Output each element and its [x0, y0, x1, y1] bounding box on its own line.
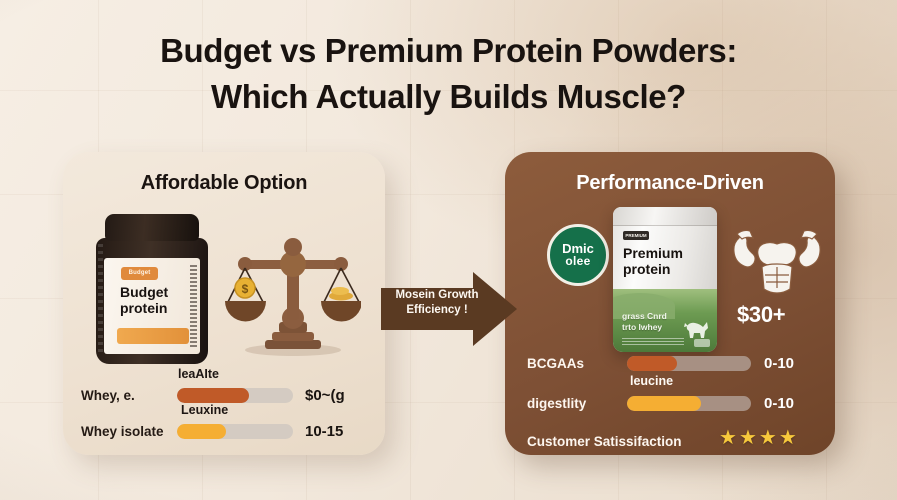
right-stat-value-1: 0-10 — [764, 395, 794, 412]
cow-icon — [681, 314, 711, 340]
left-stat-caption-1: Leuxine — [181, 403, 228, 417]
rating-stars: ★ ★ ★ ★ — [719, 428, 797, 448]
right-stat-label-0: BCGAAs — [527, 356, 627, 371]
left-card-title: Affordable Option — [63, 172, 385, 195]
left-stat-value-1: 10-15 — [305, 423, 343, 440]
customer-satisfaction-label: Customer Satissifaction — [527, 434, 682, 449]
left-stat-bar-fill-0 — [177, 388, 249, 403]
pouch-top-seal — [613, 207, 717, 226]
tub-barcode — [190, 265, 197, 347]
affordable-option-card: Affordable Option Budget Budget protein — [63, 152, 385, 455]
title-line-2: Which Actually Builds Muscle? — [0, 74, 897, 120]
growth-efficiency-arrow: Mosein Growth Efficiency ! — [381, 272, 517, 346]
right-stat-row-0: BCGAAs 0-10 — [527, 352, 823, 374]
left-stat-row-1: Whey isolate 10-15 — [81, 420, 373, 442]
pouch-fine-print — [622, 338, 684, 345]
arrow-label-line-2: Efficiency ! — [387, 303, 487, 318]
tub-ribs — [98, 244, 103, 352]
performance-driven-card: Performance-Driven Dmic olee PREMIUM Pre… — [505, 152, 835, 455]
left-stat-caption-0: leaAIte — [178, 367, 219, 381]
pouch-scene-line-2: trto Iwhey — [622, 322, 667, 333]
organic-badge: Dmic olee — [547, 224, 609, 286]
right-stat-bar-fill-1 — [627, 396, 701, 411]
badge-line-2: olee — [565, 255, 590, 268]
premium-protein-pouch-image: PREMIUM Premium protein grass Cnrd trto … — [613, 207, 717, 352]
balance-scale-icon: $ — [221, 222, 361, 362]
star-icon-2: ★ — [739, 428, 757, 448]
left-stat-value-0: $0~(g — [305, 387, 345, 404]
right-stat-row-1: digestlity 0-10 — [527, 392, 823, 414]
pouch-pasture-scene: grass Cnrd trto Iwhey — [613, 289, 717, 352]
right-stat-value-0: 0-10 — [764, 355, 794, 372]
tub-product-name: Budget protein — [120, 284, 168, 316]
pouch-seal-mark — [694, 339, 710, 347]
right-card-title: Performance-Driven — [505, 172, 835, 195]
infographic-canvas: Budget vs Premium Protein Powders: Which… — [0, 0, 897, 500]
flexing-arms-icon — [729, 224, 825, 294]
tub-brand-tag: Budget — [121, 267, 158, 280]
pouch-product-name: Premium protein — [623, 245, 683, 277]
star-icon-1: ★ — [719, 428, 737, 448]
left-stat-label-0: Whey, e. — [81, 388, 177, 403]
budget-protein-tub-image: Budget Budget protein — [96, 214, 208, 364]
star-icon-4: ★ — [779, 428, 797, 448]
tub-lid — [105, 214, 199, 241]
right-stat-bar-fill-0 — [627, 356, 677, 371]
left-stat-bar-fill-1 — [177, 424, 226, 439]
tub-name-line-1: Budget — [120, 284, 168, 300]
svg-text:$: $ — [242, 282, 249, 296]
right-stat-bar-0 — [627, 356, 751, 371]
pouch-name-line-2: protein — [623, 261, 683, 277]
right-stat-label-1: digestlity — [527, 396, 627, 411]
star-icon-3: ★ — [759, 428, 777, 448]
left-stat-bar-0 — [177, 388, 293, 403]
arrow-label: Mosein Growth Efficiency ! — [387, 288, 487, 318]
pouch-name-line-1: Premium — [623, 245, 683, 261]
page-title: Budget vs Premium Protein Powders: Which… — [0, 28, 897, 120]
left-stat-label-1: Whey isolate — [81, 424, 177, 439]
arrow-label-line-1: Mosein Growth — [387, 288, 487, 303]
premium-price: $30+ — [737, 302, 785, 328]
tub-accent-stripe — [117, 328, 189, 344]
tub-name-line-2: protein — [120, 300, 168, 316]
pouch-scene-text: grass Cnrd trto Iwhey — [622, 311, 667, 333]
pouch-scene-line-1: grass Cnrd — [622, 311, 667, 322]
right-stat-caption-1: leucine — [630, 374, 673, 388]
tub-body: Budget Budget protein — [96, 238, 208, 364]
pouch-brand-tag: PREMIUM — [623, 231, 649, 240]
tub-label: Budget Budget protein — [104, 258, 200, 354]
left-stat-bar-1 — [177, 424, 293, 439]
right-stat-bar-1 — [627, 396, 751, 411]
title-line-1: Budget vs Premium Protein Powders: — [0, 28, 897, 74]
